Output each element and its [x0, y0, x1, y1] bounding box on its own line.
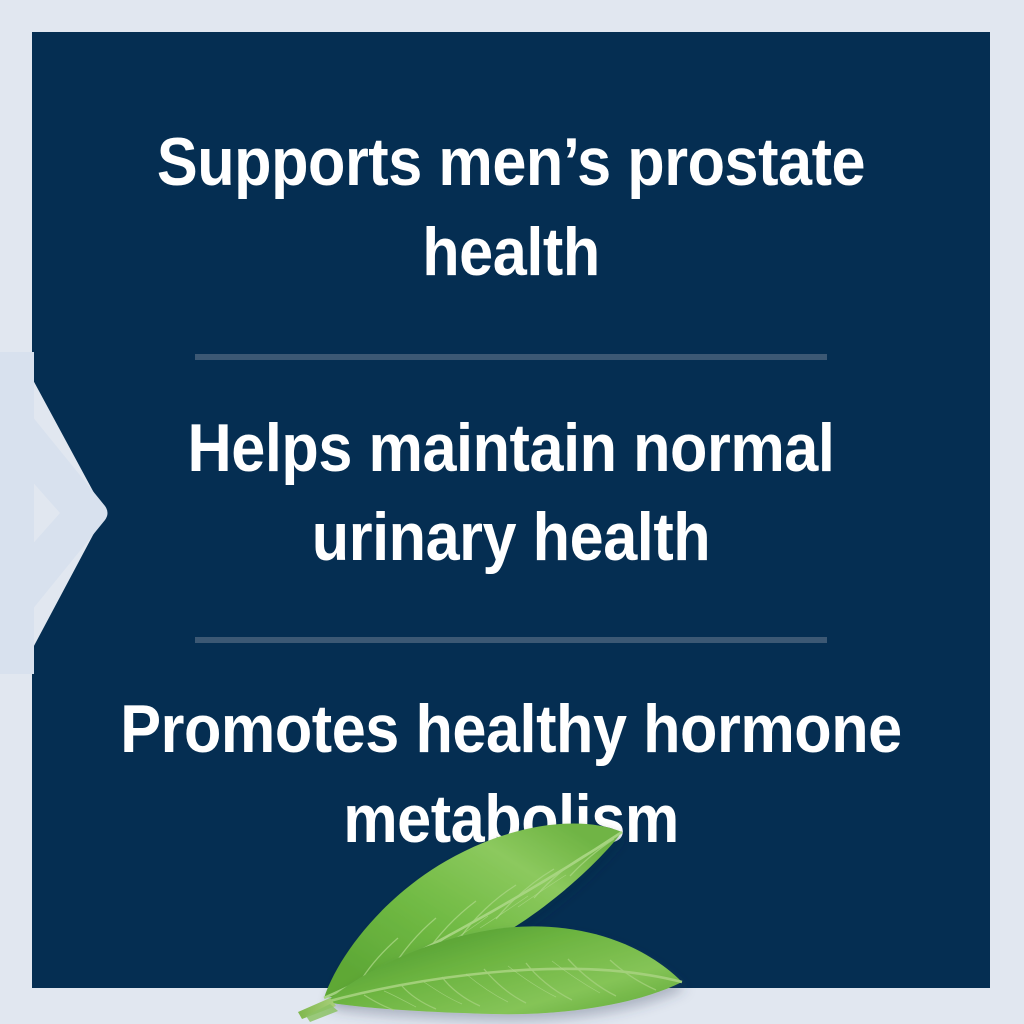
benefit-hormone-metabolism: Promotes healthy hormone metabolism [115, 685, 907, 865]
benefit-prostate-health: Supports men’s prostate health [115, 118, 907, 298]
benefits-list: Supports men’s prostate health Helps mai… [32, 32, 990, 988]
divider-2 [195, 637, 827, 643]
divider-1 [195, 354, 827, 360]
benefit-urinary-health: Helps maintain normal urinary health [115, 404, 907, 584]
leaf-stems [298, 998, 338, 1022]
benefits-graphic: Supports men’s prostate health Helps mai… [0, 0, 1024, 1024]
